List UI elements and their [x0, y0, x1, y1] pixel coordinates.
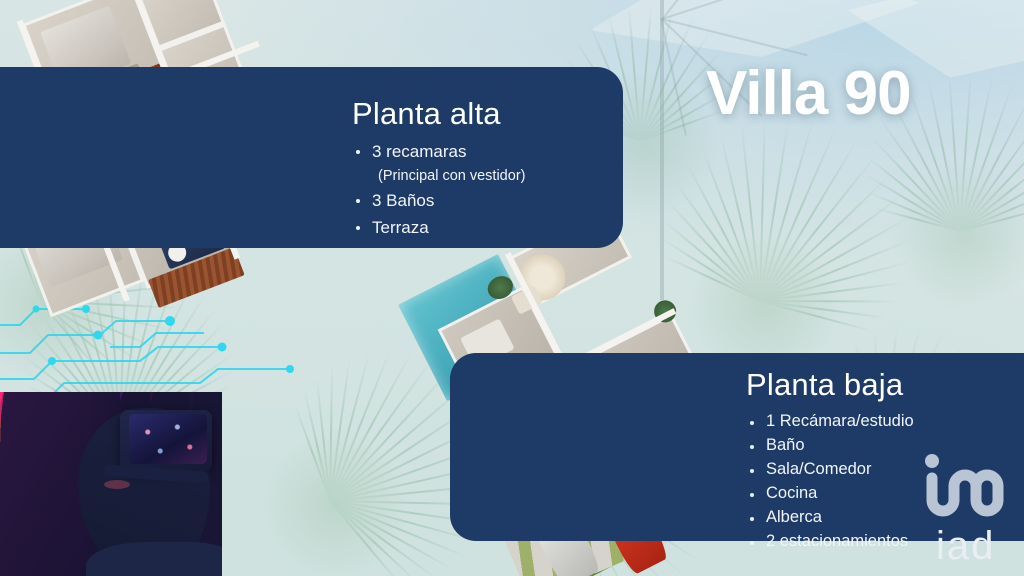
iad-infinity-icon: [918, 452, 1024, 522]
person-lips: [104, 480, 130, 489]
iad-wordmark: iad: [936, 524, 995, 569]
list-item-note: (Principal con vestidor): [352, 165, 525, 187]
upper-floor-feature-list: 3 recamaras (Principal con vestidor) 3 B…: [352, 138, 525, 241]
upper-floor-text-block: Planta alta 3 recamaras (Principal con v…: [352, 96, 525, 241]
list-item: 3 Baños: [352, 187, 525, 214]
vr-headset-photo: [0, 392, 222, 576]
list-item: 1 Recámara/estudio: [746, 409, 914, 433]
list-item: Cocina: [746, 481, 914, 505]
list-item: Baño: [746, 433, 914, 457]
page-title: Villa 90: [706, 58, 911, 129]
list-item: 2 estacionamientos: [746, 529, 914, 553]
list-item: Sala/Comedor: [746, 457, 914, 481]
list-item: Terraza: [352, 214, 525, 241]
list-item: 3 recamaras: [352, 138, 525, 165]
iad-dot-icon: [925, 454, 939, 468]
vr-screen-display: [129, 414, 207, 464]
upper-floor-panel: [0, 67, 623, 248]
iad-logo: iad: [918, 452, 1024, 568]
lower-floor-feature-list: 1 Recámara/estudio Baño Sala/Comedor Coc…: [746, 409, 914, 553]
person-shoulder: [86, 542, 222, 576]
list-item: Alberca: [746, 505, 914, 529]
slide-canvas: Planta Baja Planta alta 3 recamaras (Pri…: [0, 0, 1024, 576]
lower-floor-heading: Planta baja: [746, 367, 914, 403]
upper-floor-heading: Planta alta: [352, 96, 525, 132]
lower-floor-text-block: Planta baja 1 Recámara/estudio Baño Sala…: [746, 367, 914, 553]
